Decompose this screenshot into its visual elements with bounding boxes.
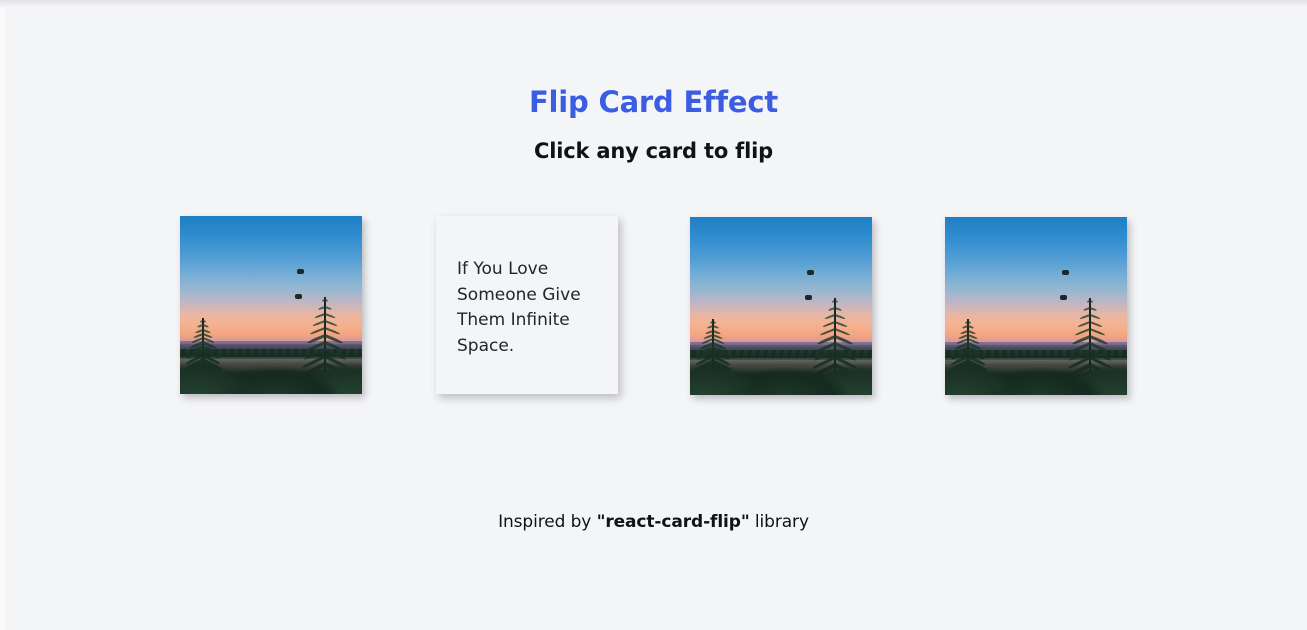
- footer-suffix: library: [750, 512, 809, 532]
- treetop-sprig-icon: [805, 295, 812, 300]
- browser-chrome-band: [0, 0, 1307, 7]
- flip-card-1[interactable]: [180, 216, 362, 394]
- footer-library-name: "react-card-flip": [597, 512, 750, 532]
- treetop-sprig-icon: [1060, 295, 1067, 300]
- foreground-foliage: [690, 345, 872, 395]
- left-edge-gutter: [0, 0, 5, 630]
- card-quote-text: If You Love Someone Give Them Infinite S…: [457, 257, 599, 359]
- flip-card-3[interactable]: [690, 217, 872, 395]
- flip-card-4[interactable]: [945, 217, 1127, 395]
- treetop-bird-icon: [1062, 270, 1069, 275]
- treetop-bird-icon: [297, 269, 304, 274]
- footer-prefix: Inspired by: [498, 512, 596, 532]
- sunset-lake-photo: [945, 217, 1127, 395]
- card-grid: If You Love Someone Give Them Infinite S…: [180, 216, 1128, 396]
- treetop-sprig-icon: [295, 294, 302, 299]
- treetop-bird-icon: [807, 270, 814, 275]
- footer-credit: Inspired by "react-card-flip" library: [0, 512, 1307, 532]
- page-root: Flip Card Effect Click any card to flip …: [0, 0, 1307, 630]
- sunset-lake-photo: [180, 216, 362, 394]
- page-subtitle: Click any card to flip: [0, 139, 1307, 163]
- page-title: Flip Card Effect: [0, 85, 1307, 119]
- foreground-foliage: [945, 345, 1127, 395]
- foreground-foliage: [180, 344, 362, 394]
- flip-card-2[interactable]: If You Love Someone Give Them Infinite S…: [436, 216, 618, 394]
- sunset-lake-photo: [690, 217, 872, 395]
